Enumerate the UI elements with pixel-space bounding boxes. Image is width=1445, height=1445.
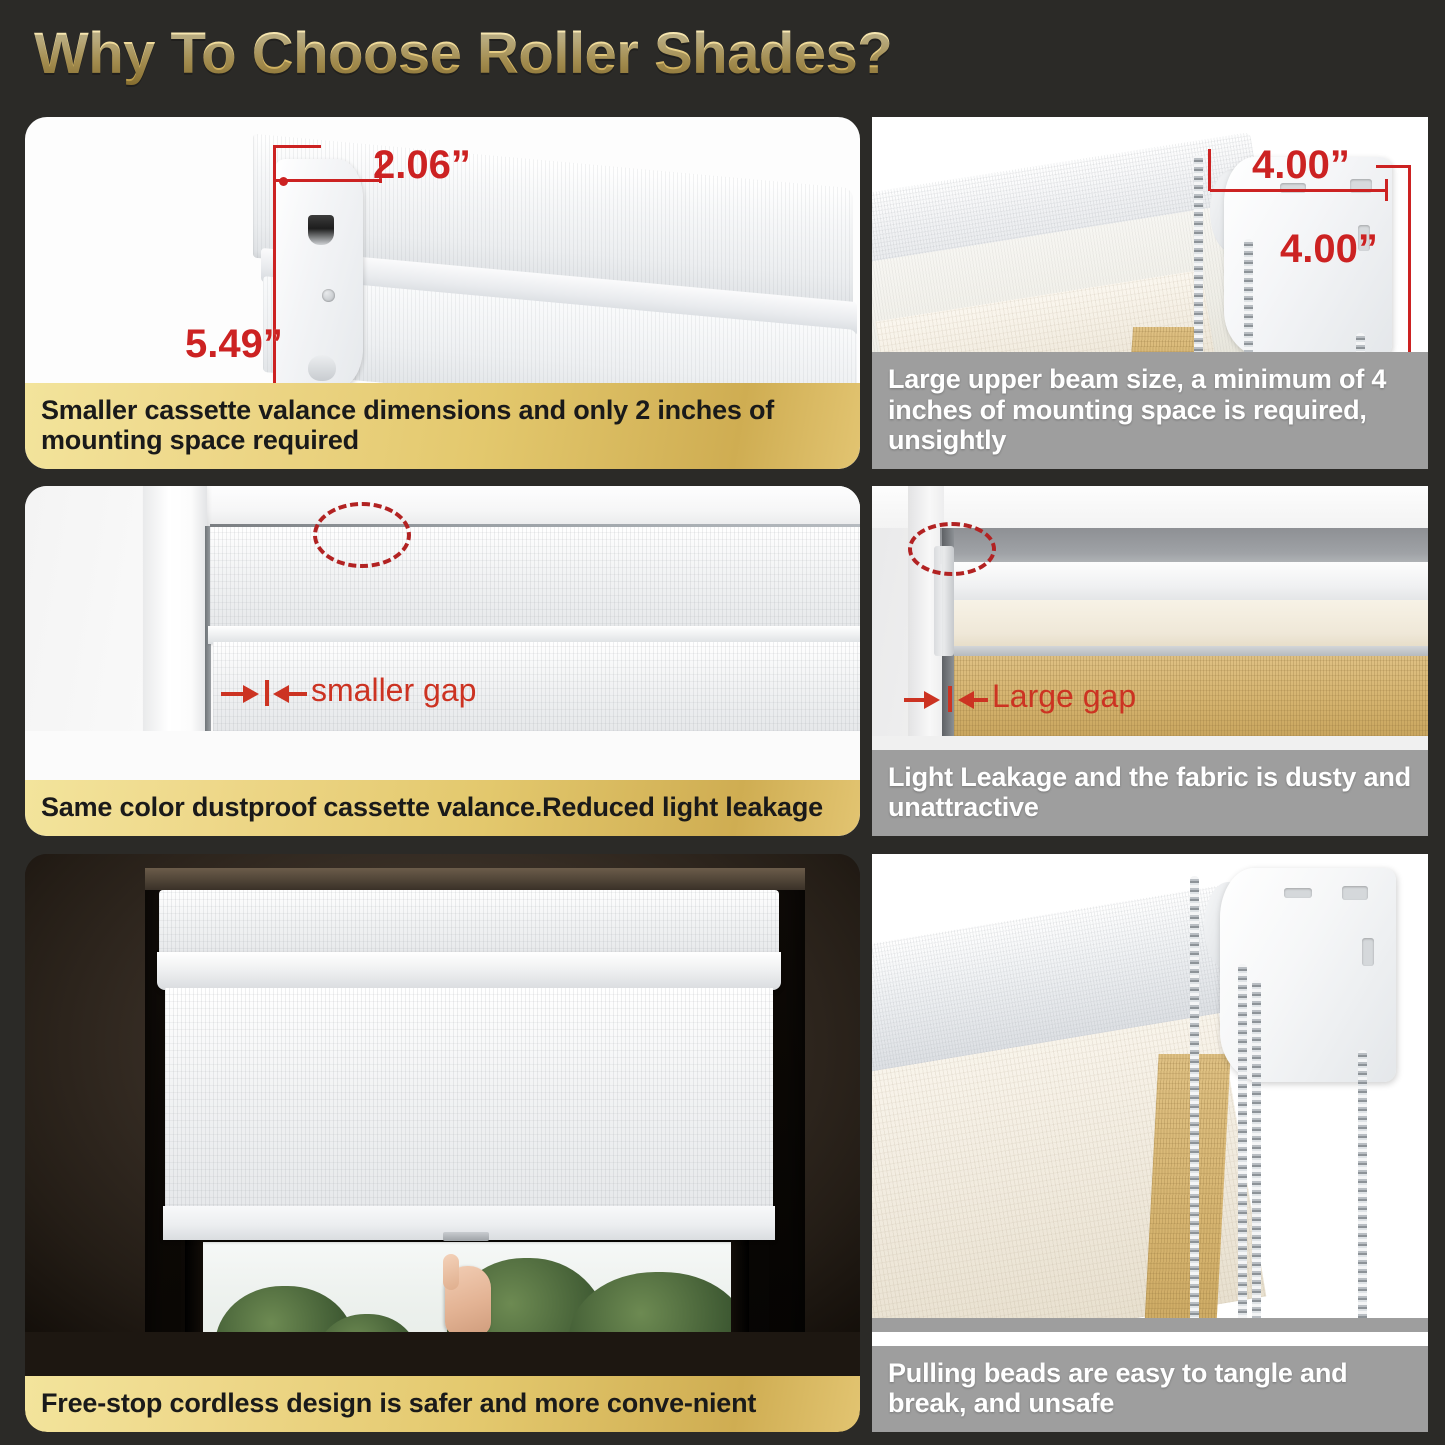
shade-upper-fabric [210,526,860,631]
gap-marker-bar [948,686,952,712]
panel-3-caption: Same color dustproof cassette valance.Re… [25,780,860,836]
bead-chain [1238,964,1247,1332]
window-frame-right [731,1234,749,1332]
beam-width-tick-right [1385,179,1388,201]
bracket-slot-icon [1284,888,1312,898]
end-cap-roller-icon [308,355,336,381]
gap-arrow-tail-left [904,698,926,702]
gap-arrow-tail-left [221,692,245,696]
panel-smaller-cassette: 2.06” 5.49” Smaller cassette valance dim… [25,117,860,469]
height-dimension-label: 5.49” [185,322,283,367]
upper-beam-face [944,562,1428,602]
smaller-gap-label: smaller gap [311,672,476,709]
beam-width-line [1210,189,1388,192]
shade-fabric [165,988,773,1212]
bead-chain [1194,155,1203,375]
gap-arrow-tail-right [289,692,307,696]
infographic-page: Why To Choose Roller Shades? 2.06” [0,0,1445,1445]
hand-thumb [443,1254,459,1290]
panel-3-photo: smaller gap [25,486,860,731]
panel-6-bottom-strip [872,1318,1428,1332]
end-cap-slot-icon [308,215,334,245]
bead-chain [1190,876,1199,1332]
panel-cordless-design: Free-stop cordless design is safer and m… [25,854,860,1432]
panel-4-caption: Light Leakage and the fabric is dusty an… [872,750,1428,836]
gap-arrow-right-icon [924,691,940,709]
window-frame-top [165,486,860,526]
end-cap-screw-icon [322,289,335,302]
width-dimension-label: 2.06” [373,143,471,188]
bracket-slot-icon [1342,886,1368,900]
panel-2-caption: Large upper beam size, a minimum of 4 in… [872,352,1428,469]
panel-4-photo: Large gap [872,486,1428,736]
tree-icon [569,1272,737,1332]
bracket-slot-icon [1362,938,1374,966]
beam-width-label: 4.00” [1252,143,1350,188]
panel-1-caption: Smaller cassette valance dimensions and … [25,383,860,469]
panel-grid: 2.06” 5.49” Smaller cassette valance dim… [0,108,1445,1445]
page-title: Why To Choose Roller Shades? [34,20,892,87]
hand-pulling-shade [443,1236,497,1332]
beam-height-line [1408,165,1411,355]
shade-pull-handle [443,1232,489,1241]
height-tick-top [273,145,321,148]
upper-beam-shadow [940,528,1428,564]
window-recess-header [145,868,805,890]
cassette-headrail-lip [157,952,781,990]
panel-2-photo: 4.00” 4.00” [872,117,1428,375]
panel-6-caption: Pulling beads are easy to tangle and bre… [872,1346,1428,1432]
gap-marker-bar [265,680,269,706]
beam-height-tick-top [1376,165,1410,168]
highlight-ellipse-icon [908,522,996,576]
panel-5-photo [25,854,860,1332]
bead-chain [1252,980,1261,1332]
beam-width-tick-left [1208,149,1211,191]
panel-5-caption: Free-stop cordless design is safer and m… [25,1376,860,1432]
bead-chain [1358,1050,1367,1332]
gap-arrow-right-icon [243,685,259,703]
window-frame-left [143,486,207,731]
beam-height-label: 4.00” [1280,227,1378,272]
large-gap-label: Large gap [992,678,1136,715]
gap-arrow-left-icon [273,685,289,703]
panel-large-beam: 4.00” 4.00” Large upper beam size, a min… [872,117,1428,469]
cassette-headrail [159,890,779,956]
beam-cream-band [948,600,1428,648]
panel-6-photo [872,854,1428,1332]
valance-seam [210,524,860,527]
valance-end-cap [275,159,363,387]
panel-pulling-beads: Pulling beads are easy to tangle and bre… [872,854,1428,1432]
window-frame-left [185,1234,203,1332]
width-dimension-line [275,179,382,182]
gap-arrow-tail-right [972,698,988,702]
beam-edge [950,646,1428,656]
highlight-ellipse-icon [313,502,411,568]
panel-1-photo: 2.06” 5.49” [25,117,860,399]
panel-light-leakage: Large gap Light Leakage and the fabric i… [872,486,1428,836]
panel-dustproof-valance: smaller gap Same color dustproof cassett… [25,486,860,836]
